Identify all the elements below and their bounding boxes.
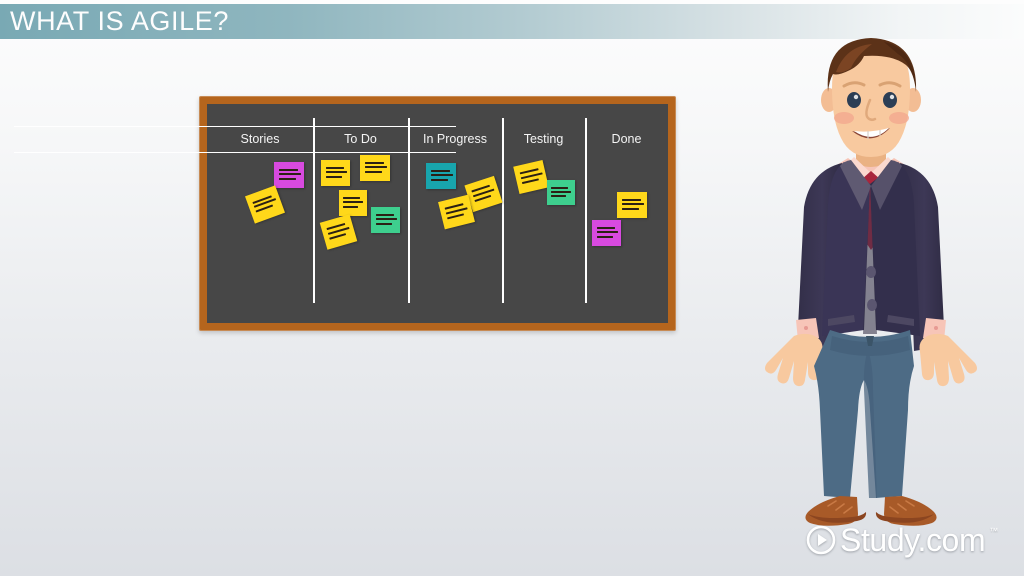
column-header-done[interactable]: Done xyxy=(585,131,668,148)
sticky-note-text-line xyxy=(279,178,296,180)
sticky-note[interactable] xyxy=(321,160,350,186)
sticky-note-text-line xyxy=(365,162,384,164)
sticky-note-text-line xyxy=(622,199,641,201)
sticky-note-text-line xyxy=(326,167,344,169)
sticky-note-text-line xyxy=(522,178,539,184)
sticky-note-text-line xyxy=(622,203,644,205)
sticky-note-text-line xyxy=(365,166,387,168)
sticky-note-text-line xyxy=(376,223,392,225)
sticky-note-text-line xyxy=(447,213,464,219)
sticky-note-text-line xyxy=(343,197,360,199)
column-header-to-do[interactable]: To Do xyxy=(313,131,408,148)
column-header-testing[interactable]: Testing xyxy=(502,131,585,148)
sticky-note-text-line xyxy=(431,174,453,176)
page-title: WHAT IS AGILE? xyxy=(10,5,229,38)
sticky-note-text-line xyxy=(279,169,298,171)
sticky-note-text-line xyxy=(597,236,613,238)
watermark-trademark: ™ xyxy=(989,526,998,536)
sticky-note-text-line xyxy=(431,170,450,172)
board-rule-bottom xyxy=(14,152,456,153)
sticky-note[interactable] xyxy=(426,163,456,189)
sticky-note-text-line xyxy=(326,176,342,178)
sticky-note-text-line xyxy=(551,195,566,197)
board-rule-top xyxy=(14,126,456,127)
sticky-note[interactable] xyxy=(371,207,400,233)
sticky-note-text-line xyxy=(597,227,615,229)
sticky-note-text-line xyxy=(551,187,568,189)
sticky-note-text-line xyxy=(326,171,347,173)
play-circle-icon xyxy=(806,525,836,555)
column-header-stories[interactable]: Stories xyxy=(207,131,313,148)
businessman-illustration xyxy=(756,30,986,535)
sticky-note-text-line xyxy=(365,171,382,173)
watermark-label: Study.com xyxy=(840,524,985,556)
sticky-note-text-line xyxy=(597,231,618,233)
sticky-note[interactable] xyxy=(547,180,575,205)
sticky-note[interactable] xyxy=(617,192,647,218)
sticky-note-text-line xyxy=(551,191,571,193)
sticky-note-text-line xyxy=(376,214,394,216)
sticky-note-text-line xyxy=(329,233,346,240)
sticky-note-text-line xyxy=(343,206,358,208)
sticky-note[interactable] xyxy=(339,190,367,216)
sticky-note[interactable] xyxy=(592,220,621,246)
sticky-note-text-line xyxy=(622,208,639,210)
sticky-note[interactable] xyxy=(274,162,304,188)
study-com-watermark: Study.com ™ xyxy=(806,520,998,560)
column-header-in-progress[interactable]: In Progress xyxy=(408,131,502,148)
sticky-note-text-line xyxy=(279,173,301,175)
sticky-note-text-line xyxy=(431,179,448,181)
sticky-note[interactable] xyxy=(360,155,390,181)
sticky-note-text-line xyxy=(376,218,397,220)
sticky-note-text-line xyxy=(343,201,363,203)
